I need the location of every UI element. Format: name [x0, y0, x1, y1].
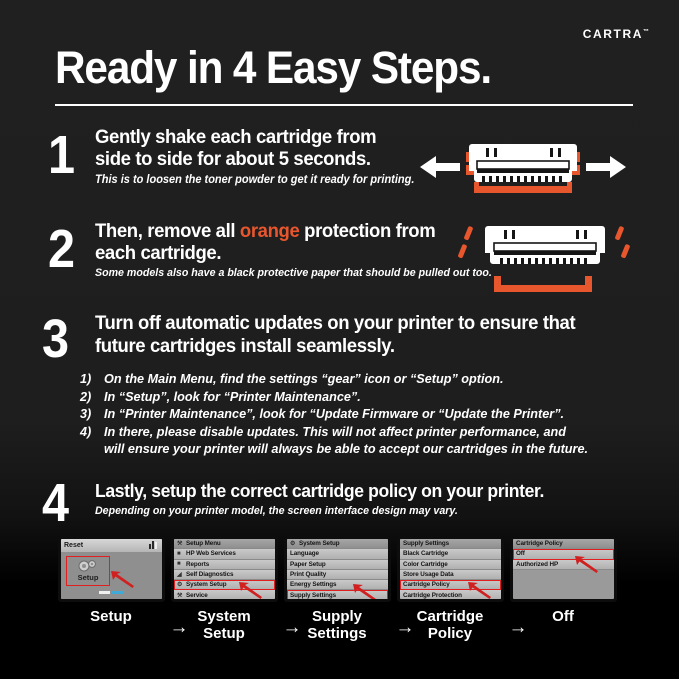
diagnostics-icon: ◢: [177, 571, 186, 578]
menu-row-label: Black Cartridge: [403, 550, 448, 557]
step-2-heading: Then, remove all orange protection from …: [95, 220, 435, 264]
step-2-subtext: Some models also have a black protective…: [95, 267, 492, 279]
substep-marker: 2): [80, 388, 104, 406]
step-1-heading: Gently shake each cartridge from side to…: [95, 126, 376, 170]
setup-tile-label: Setup: [78, 573, 99, 582]
flow-label-line1: Setup: [65, 608, 157, 625]
gear-icon: [76, 560, 100, 573]
poster-root: CARTRA™ Ready in 4 Easy Steps. 1 Gently …: [0, 0, 679, 679]
menu-row-label: System Setup: [299, 540, 339, 547]
menu-row-reports[interactable]: ■Reports: [174, 560, 275, 570]
menu-row-supply-settings-header: Supply Settings: [400, 539, 501, 549]
step-1-subtext: This is to loosen the toner powder to ge…: [95, 173, 414, 186]
substep-marker: 4): [80, 423, 104, 458]
menu-row-setup-menu[interactable]: ⚒Setup Menu: [174, 539, 275, 549]
menu-row-label: Language: [290, 550, 319, 557]
menu-row-label: Print Quality: [290, 571, 326, 578]
flow-label-line2: Settings: [291, 625, 383, 642]
menu-row-service[interactable]: ⚒Service: [174, 590, 275, 599]
substep-item: 2) In “Setup”, look for “Printer Mainten…: [80, 388, 588, 406]
printer-screen-setup-menu[interactable]: ⚒Setup Menu ■HP Web Services ■Reports ◢S…: [171, 536, 278, 602]
menu-row-label: Supply Settings: [290, 592, 336, 599]
step-2-heading-highlight: orange: [240, 220, 299, 242]
substep-item: 4) In there, please disable updates. Thi…: [80, 423, 588, 458]
brand-logo: CARTRA™: [583, 27, 649, 41]
substep-marker: 3): [80, 405, 104, 423]
substep-marker: 1): [80, 370, 104, 388]
menu-row-black-cartridge[interactable]: Black Cartridge: [400, 549, 501, 559]
flow-label-cartridge-policy: Cartridge Policy: [404, 608, 496, 642]
printer-screen-cartridge-policy[interactable]: Cartridge Policy Off Authorized HP: [510, 536, 617, 602]
substep-item: 1) On the Main Menu, find the settings “…: [80, 370, 588, 388]
menu-row-authorized-hp[interactable]: Authorized HP: [513, 560, 614, 570]
step-2-heading-post: protection from: [299, 220, 435, 242]
menu-row-label: Setup Menu: [186, 540, 221, 547]
menu-row-off[interactable]: Off: [513, 549, 614, 559]
wrench-icon: ⚒: [177, 592, 186, 599]
flow-label-supply-settings: Supply Settings: [291, 608, 383, 642]
substep-text: In “Setup”, look for “Printer Maintenanc…: [104, 389, 361, 404]
flow-label-line1: Off: [517, 608, 609, 625]
flow-label-system-setup: System Setup: [178, 608, 270, 642]
tools-icon: ⚒: [177, 540, 186, 547]
signal-icon: [149, 541, 159, 551]
menu-row-color-cartridge[interactable]: Color Cartridge: [400, 560, 501, 570]
menu-row-supply-settings[interactable]: Supply Settings: [287, 590, 388, 599]
menu-row-self-diagnostics[interactable]: ◢Self Diagnostics: [174, 570, 275, 580]
orange-piece-icon: [458, 226, 473, 259]
pill-white: [99, 591, 110, 594]
printer-screen-reset[interactable]: Reset: [58, 536, 165, 602]
printer-screen-sequence: Reset: [58, 536, 624, 602]
menu-row-label: Self Diagnostics: [186, 571, 233, 578]
menu-row-energy-settings[interactable]: Energy Settings: [287, 580, 388, 590]
menu-list: Cartridge Policy Off Authorized HP: [513, 539, 614, 570]
printer-screen-system-setup[interactable]: ⚙System Setup Language Paper Setup Print…: [284, 536, 391, 602]
menu-row-cartridge-protection[interactable]: Cartridge Protection: [400, 590, 501, 599]
step-4-subtext: Depending on your printer model, the scr…: [95, 505, 458, 517]
menu-row-cartridge-policy[interactable]: Cartridge Policy: [400, 580, 501, 590]
menu-row-label: Off: [516, 550, 525, 557]
step-3-number: 3: [42, 312, 69, 366]
step-3-heading: Turn off automatic updates on your print…: [95, 312, 575, 358]
menu-row-hp-web-services[interactable]: ■HP Web Services: [174, 549, 275, 559]
menu-row-label: HP Web Services: [186, 550, 236, 557]
menu-row-label: Authorized HP: [516, 561, 558, 568]
screen-body: Setup: [61, 552, 162, 599]
menu-row-label: Store Usage Data: [403, 571, 454, 578]
menu-row-system-setup[interactable]: ⚙System Setup: [174, 580, 275, 590]
step-2-heading-line2: each cartridge.: [95, 242, 435, 264]
menu-row-language[interactable]: Language: [287, 549, 388, 559]
menu-row-label: Cartridge Policy: [403, 581, 450, 588]
title-divider: [55, 104, 633, 106]
pill-blue: [112, 591, 123, 594]
document-icon: ■: [177, 551, 186, 557]
menu-row-label: Paper Setup: [290, 561, 326, 568]
status-pills: [99, 591, 123, 594]
menu-row-label: Color Cartridge: [403, 561, 448, 568]
arrow-right-icon: [586, 156, 626, 178]
step-2-heading-line1: Then, remove all orange protection from: [95, 220, 435, 242]
flow-label-line1: Supply: [291, 608, 383, 625]
flow-label-off: Off: [517, 608, 609, 625]
step-3-heading-line1: Turn off automatic updates on your print…: [95, 312, 575, 335]
menu-list: ⚒Setup Menu ■HP Web Services ■Reports ◢S…: [174, 539, 275, 599]
brand-name: CARTRA: [583, 27, 643, 41]
step-2-heading-pre: Then, remove all: [95, 220, 240, 242]
step-1-heading-line2: side to side for about 5 seconds.: [95, 148, 376, 170]
flow-label-line1: Cartridge: [404, 608, 496, 625]
substep-text: On the Main Menu, find the settings “gea…: [104, 371, 503, 386]
step-4-number: 4: [42, 476, 69, 530]
flow-label-line2: Policy: [404, 625, 496, 642]
cartridge-shake-illustration: [414, 136, 632, 198]
menu-list: ⚙System Setup Language Paper Setup Print…: [287, 539, 388, 599]
menu-row-store-usage-data[interactable]: Store Usage Data: [400, 570, 501, 580]
trademark-mark: ™: [643, 29, 649, 35]
screen-titlebar: Reset: [61, 539, 162, 552]
flow-label-line1: System: [178, 608, 270, 625]
substep-text-cont: will ensure your printer will always be …: [104, 441, 588, 456]
menu-row-label: Energy Settings: [290, 581, 336, 588]
pointer-arrow-icon: [109, 570, 135, 588]
step-1-heading-line1: Gently shake each cartridge from: [95, 126, 376, 148]
step-3-substep-list: 1) On the Main Menu, find the settings “…: [80, 370, 609, 458]
menu-row-print-quality[interactable]: Print Quality: [287, 570, 388, 580]
setup-tile[interactable]: Setup: [66, 556, 110, 586]
menu-row-label: System Setup: [186, 581, 226, 588]
step-4-heading: Lastly, setup the correct cartridge poli…: [95, 480, 544, 502]
menu-row-system-setup-header: ⚙System Setup: [287, 539, 388, 549]
flow-label-setup: Setup: [65, 608, 157, 625]
report-icon: ■: [177, 561, 186, 567]
menu-row-cartridge-policy-header: Cartridge Policy: [513, 539, 614, 549]
flow-label-line2: Setup: [178, 625, 270, 642]
menu-row-label: Supply Settings: [403, 540, 449, 547]
substep-text: In “Printer Maintenance”, look for “Upda…: [104, 406, 564, 421]
menu-row-paper-setup[interactable]: Paper Setup: [287, 560, 388, 570]
gear-icon: ⚙: [290, 540, 299, 547]
menu-row-label: Reports: [186, 561, 209, 568]
substep-item: 3) In “Printer Maintenance”, look for “U…: [80, 405, 588, 423]
cartridge-remove-protection-illustration: [458, 220, 632, 292]
page-title: Ready in 4 Easy Steps.: [55, 42, 491, 94]
menu-row-label: Cartridge Policy: [516, 540, 563, 547]
orange-piece-icon: [615, 226, 631, 259]
arrow-left-icon: [420, 156, 460, 178]
printer-screen-supply-settings[interactable]: Supply Settings Black Cartridge Color Ca…: [397, 536, 504, 602]
gear-icon: ⚙: [177, 581, 186, 588]
screen-title: Reset: [64, 542, 83, 549]
menu-row-label: Service: [186, 592, 208, 599]
step-1-number: 1: [48, 128, 75, 182]
step-2-number: 2: [48, 222, 75, 276]
navigation-flow: Setup → System Setup → Supply Settings →…: [58, 608, 624, 656]
step-3-heading-line2: future cartridges install seamlessly.: [95, 335, 575, 358]
substep-text: In there, please disable updates. This w…: [104, 424, 566, 439]
menu-list: Supply Settings Black Cartridge Color Ca…: [400, 539, 501, 599]
menu-row-label: Cartridge Protection: [403, 592, 462, 599]
